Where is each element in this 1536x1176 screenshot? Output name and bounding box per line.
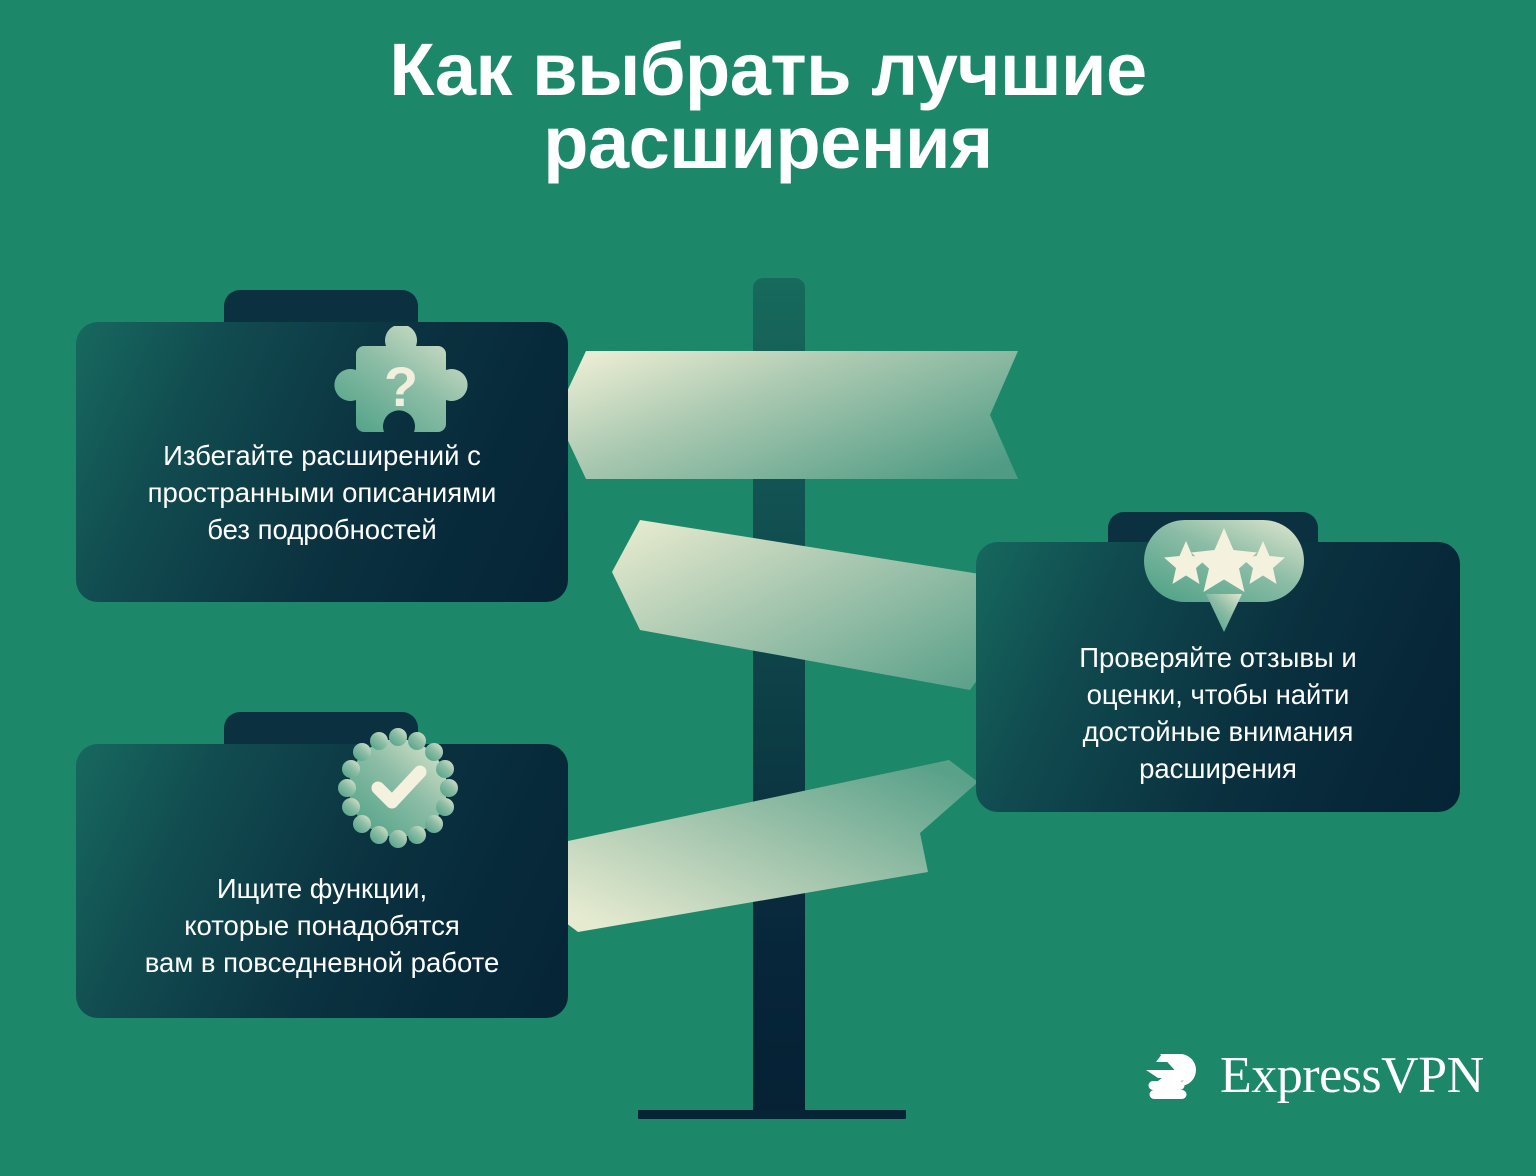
card-text: Избегайте расширений с пространными опис… [76, 437, 568, 548]
expressvpn-wordmark: ExpressVPN [1220, 1050, 1484, 1102]
info-card-check-reviews: Проверяйте отзывы и оценки, чтобы найти … [976, 512, 1460, 812]
card-text: Ищите функции, которые понадобятся вам в… [76, 870, 568, 981]
speech-bubble-stars-icon [1144, 520, 1304, 632]
info-card-look-for-features: Ищите функции, которые понадобятся вам в… [76, 712, 568, 1018]
info-card-avoid-vague-extensions: ? Избегайте расширений с пространными оп… [76, 290, 568, 602]
puzzle-piece-question-icon: ? [334, 326, 468, 451]
expressvpn-e-mark-icon [1140, 1044, 1204, 1108]
infographic-page: Как выбрать лучшие расширения [0, 0, 1536, 1176]
arrow-sign-right-middle [612, 520, 1030, 690]
arrow-sign-left-top [556, 351, 1018, 479]
verified-badge-check-icon [338, 728, 458, 848]
arrow-sign-left-bottom [528, 760, 978, 976]
page-title: Как выбрать лучшие расширения [300, 34, 1236, 179]
signpost-base [638, 1110, 906, 1119]
expressvpn-logo: ExpressVPN [1140, 1044, 1484, 1108]
svg-text:?: ? [384, 355, 418, 418]
card-text: Проверяйте отзывы и оценки, чтобы найти … [976, 639, 1460, 788]
